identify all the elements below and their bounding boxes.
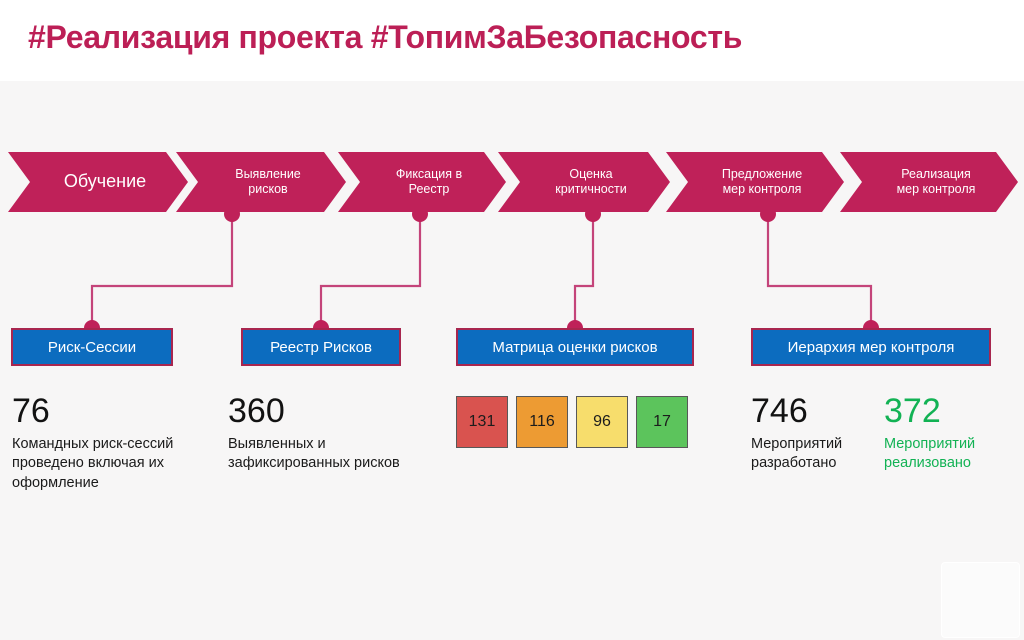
corner-placeholder-box (941, 562, 1020, 638)
risk-matrix-cell-high[interactable]: 116 (516, 396, 568, 448)
stat-risk-sessions: 76 Командных риск-сессий проведено включ… (12, 394, 202, 493)
risk-matrix-cell-critical-value: 131 (469, 413, 496, 431)
flow-step-3-label: Фиксация вРеестр (376, 167, 468, 197)
flow-step-4[interactable]: Оценкакритичности (498, 152, 670, 212)
flow-step-6[interactable]: Реализациямер контроля (840, 152, 1018, 212)
artifact-box-risk-matrix-label: Матрица оценки рисков (492, 339, 657, 356)
flow-step-6-label: Реализациямер контроля (877, 167, 982, 197)
stat-measures-implemented: 372 Мероприятий реализовано (884, 394, 1014, 474)
stat-measures-developed: 746 Мероприятий разработано (751, 394, 879, 474)
stat-measures-implemented-caption: Мероприятий реализовано (884, 435, 1014, 474)
header-band: #Реализация проекта #ТопимЗаБезопасность (0, 0, 1024, 81)
flow-step-1[interactable]: Обучение (8, 152, 188, 212)
artifact-box-control-hierarchy[interactable]: Иерархия мер контроля (751, 328, 991, 366)
process-flow: Обучение Выявлениерисков Фиксация вРеест… (0, 152, 1024, 212)
flow-step-1-label: Обучение (44, 171, 152, 192)
stat-risk-sessions-value: 76 (12, 394, 202, 428)
page-title: #Реализация проекта #ТопимЗаБезопасность (28, 19, 742, 56)
stat-measures-implemented-value: 372 (884, 394, 1014, 428)
risk-matrix-cell-critical[interactable]: 131 (456, 396, 508, 448)
artifact-box-risk-register[interactable]: Реестр Рисков (241, 328, 401, 366)
risk-matrix-cell-high-value: 116 (529, 413, 555, 431)
risk-matrix-cell-medium[interactable]: 96 (576, 396, 628, 448)
flow-step-5-label: Предложениемер контроля (702, 167, 808, 197)
stat-risks-identified-caption: Выявленных и зафиксированных рисков (228, 435, 413, 474)
flow-step-2[interactable]: Выявлениерисков (176, 152, 346, 212)
stat-measures-developed-value: 746 (751, 394, 879, 428)
stat-risk-sessions-caption: Командных риск-сессий проведено включая … (12, 435, 202, 493)
flow-step-2-label: Выявлениерисков (215, 167, 307, 197)
flow-step-4-label: Оценкакритичности (535, 167, 632, 197)
flow-step-3[interactable]: Фиксация вРеестр (338, 152, 506, 212)
risk-matrix-cell-low-value: 17 (653, 413, 671, 431)
risk-matrix-chart: 131 116 96 17 (456, 396, 688, 448)
stat-measures-developed-caption: Мероприятий разработано (751, 435, 879, 474)
stat-risks-identified-value: 360 (228, 394, 413, 428)
slide-canvas: Обучение Выявлениерисков Фиксация вРеест… (0, 81, 1024, 640)
flow-step-5[interactable]: Предложениемер контроля (666, 152, 844, 212)
artifact-box-risk-sessions-label: Риск-Сессии (48, 339, 136, 356)
artifact-box-risk-register-label: Реестр Рисков (270, 339, 372, 356)
stat-risks-identified: 360 Выявленных и зафиксированных рисков (228, 394, 413, 474)
artifact-box-risk-matrix[interactable]: Матрица оценки рисков (456, 328, 694, 366)
risk-matrix-cell-low[interactable]: 17 (636, 396, 688, 448)
artifact-box-risk-sessions[interactable]: Риск-Сессии (11, 328, 173, 366)
artifact-box-control-hierarchy-label: Иерархия мер контроля (788, 339, 955, 356)
risk-matrix-cell-medium-value: 96 (593, 413, 611, 431)
